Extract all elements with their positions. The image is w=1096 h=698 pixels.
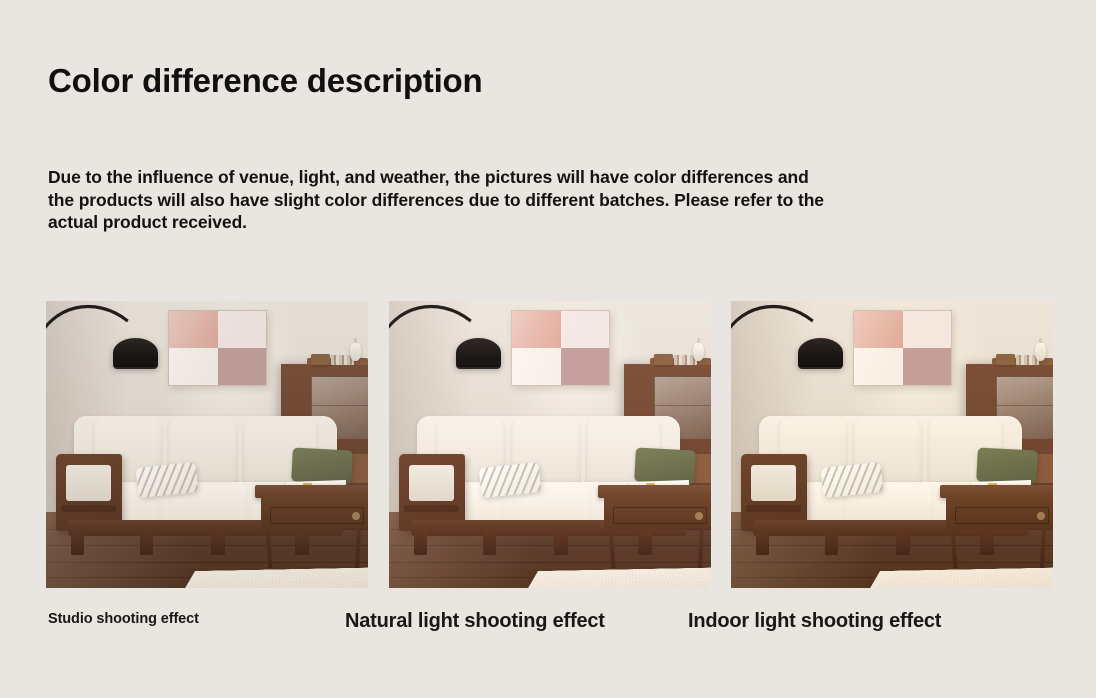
product-photo-indoor-light[interactable] <box>731 301 1053 588</box>
caption-studio-shooting-effect: Studio shooting effect <box>48 611 199 627</box>
living-room-scene <box>46 301 368 588</box>
coffee-table <box>598 485 711 568</box>
caption-natural-light-shooting-effect: Natural light shooting effect <box>345 610 605 633</box>
page-title: Color difference description <box>48 62 608 100</box>
vase-icon <box>693 343 704 361</box>
area-rug <box>173 567 368 588</box>
living-room-scene <box>731 301 1053 588</box>
vase-icon <box>350 343 361 361</box>
product-color-difference-page: Color difference description Due to the … <box>0 0 1096 698</box>
area-rug <box>516 567 711 588</box>
area-rug <box>858 567 1053 588</box>
vase-icon <box>1035 343 1046 361</box>
coffee-table <box>940 485 1053 568</box>
product-photo-natural-light[interactable] <box>389 301 711 588</box>
arc-lamp-icon <box>46 301 184 393</box>
living-room-scene <box>389 301 711 588</box>
color-difference-description-text: Due to the influence of venue, light, an… <box>48 166 838 234</box>
caption-indoor-light-shooting-effect: Indoor light shooting effect <box>688 610 941 633</box>
arc-lamp-icon <box>731 301 869 393</box>
product-photo-studio[interactable] <box>46 301 368 588</box>
coffee-table <box>255 485 368 568</box>
arc-lamp-icon <box>389 301 527 393</box>
